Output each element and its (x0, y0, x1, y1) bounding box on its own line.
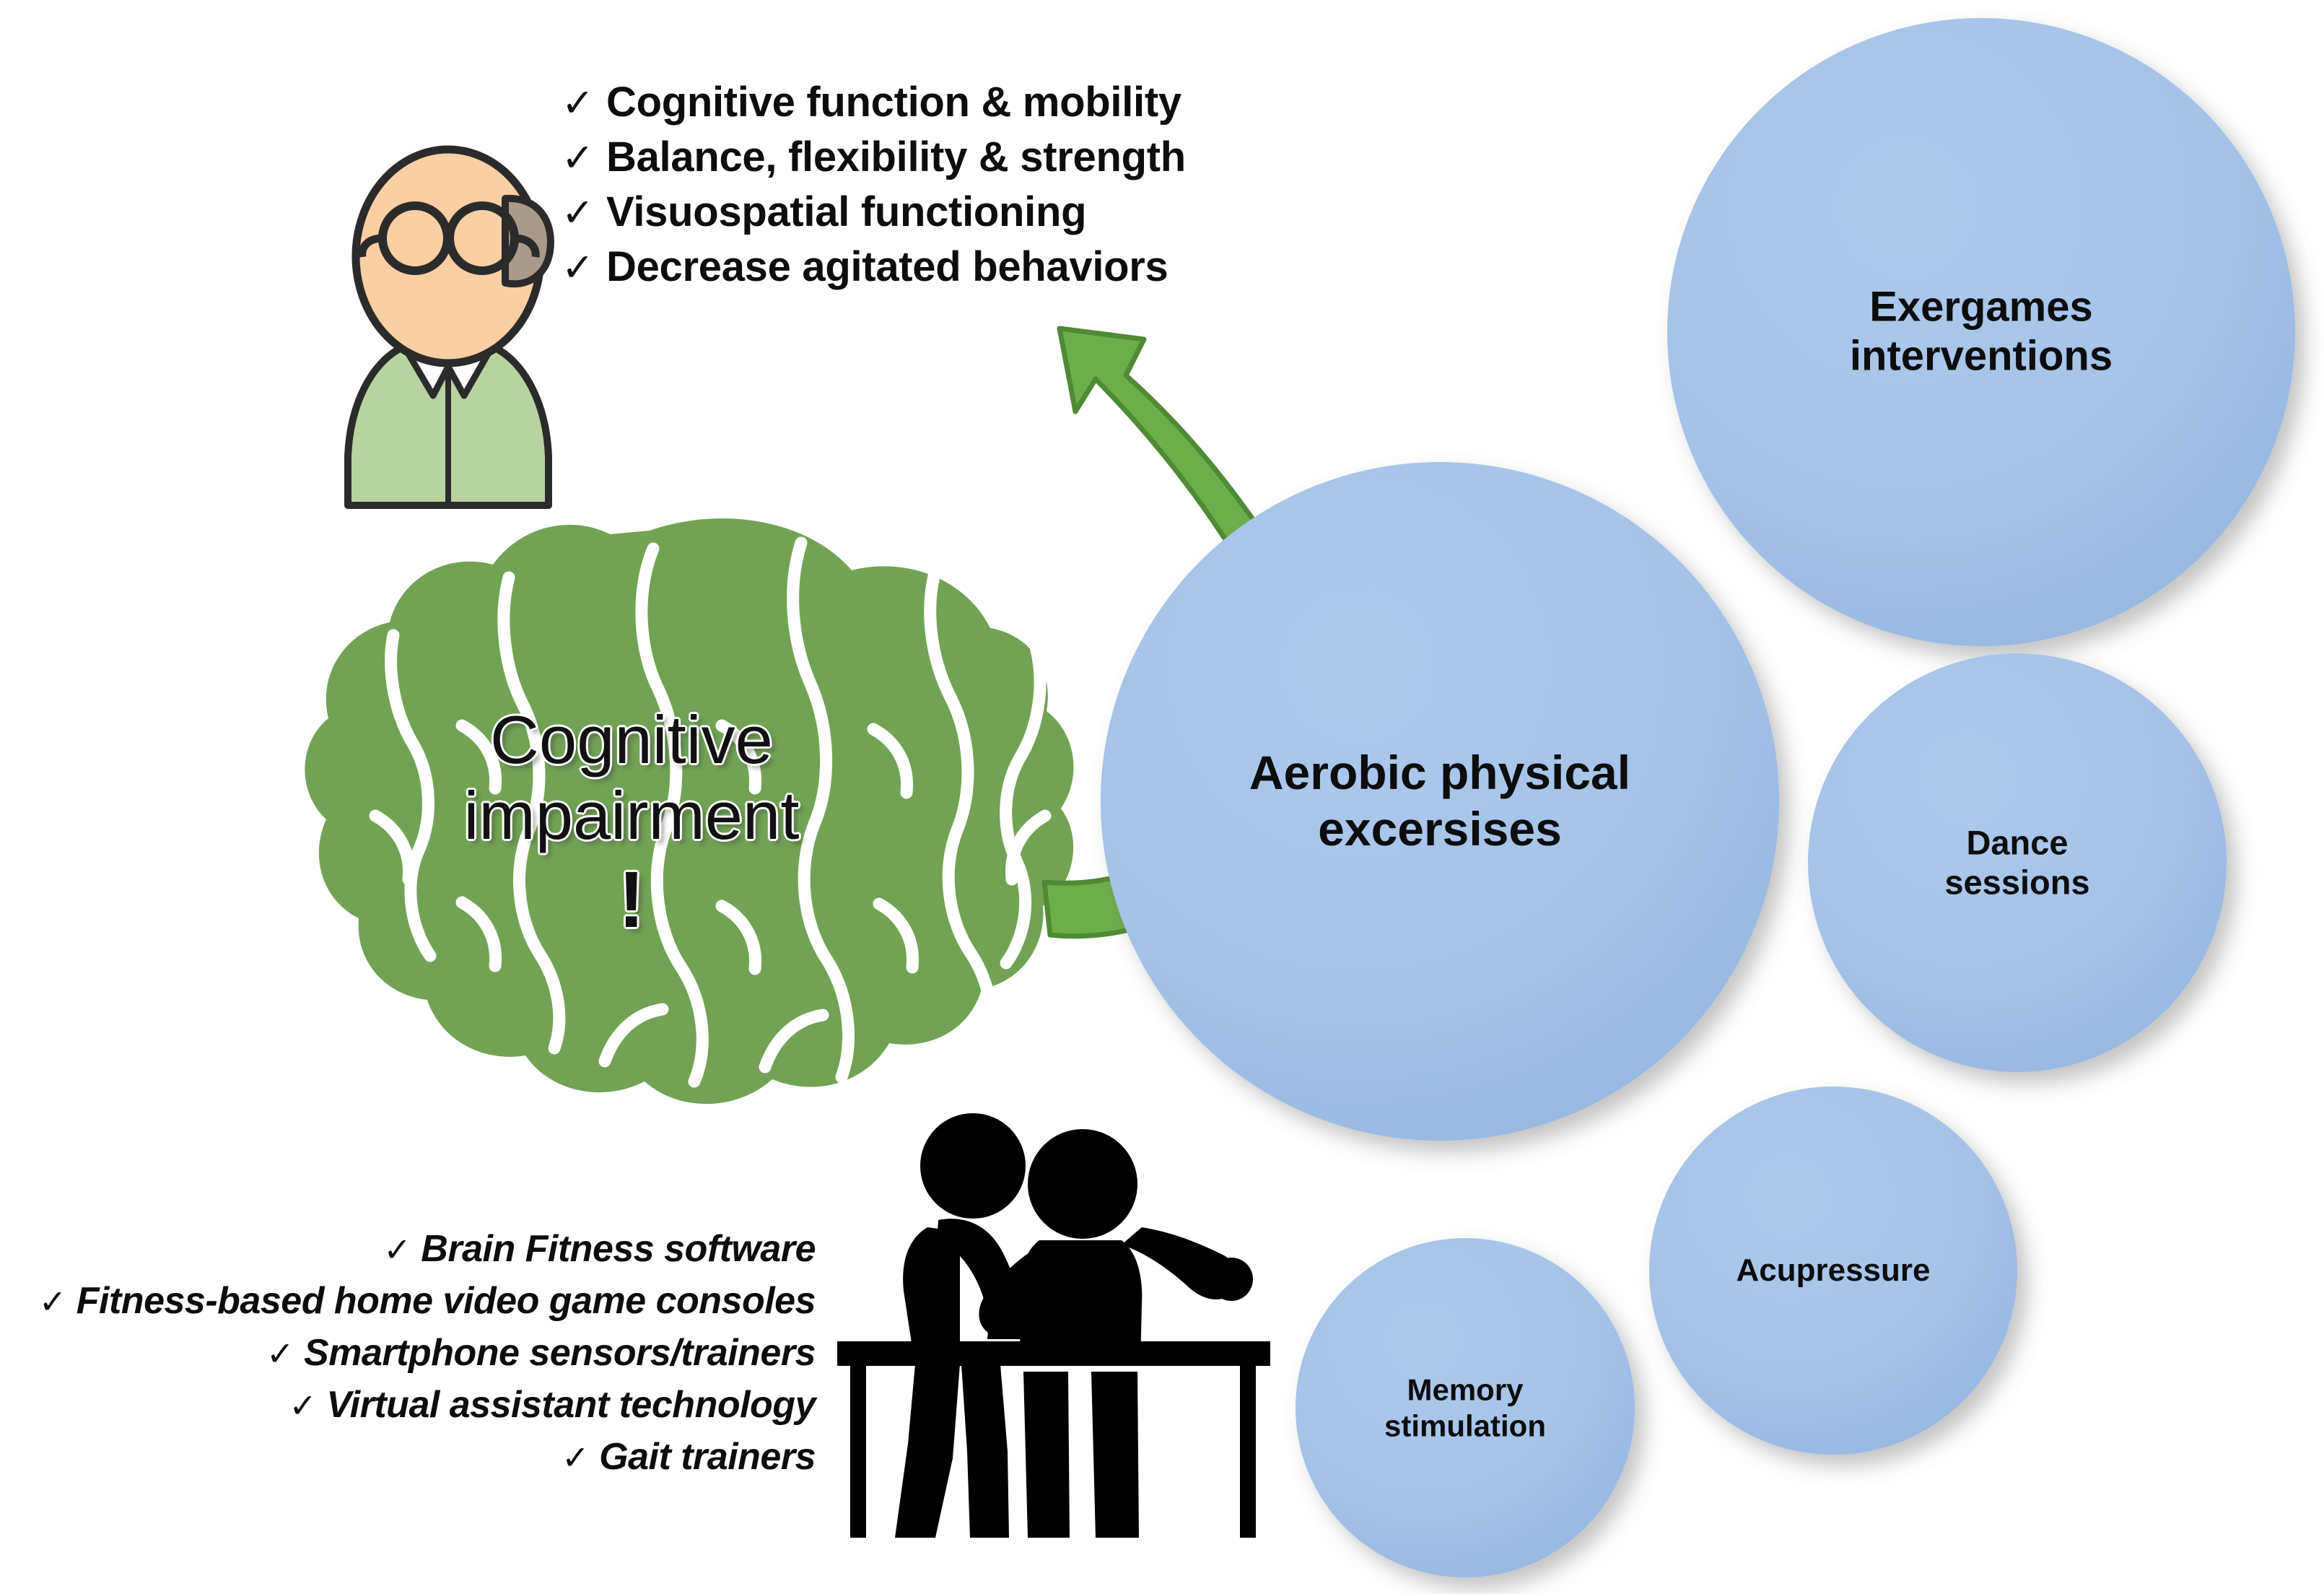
technology-item: ✓Brain Fitness software (0, 1227, 816, 1271)
technology-item: ✓Virtual assistant technology (0, 1383, 816, 1427)
check-icon: ✓ (289, 1387, 316, 1424)
technology-label: Gait trainers (599, 1436, 816, 1478)
circle-label-line1: Aerobic physical (1249, 746, 1630, 799)
check-icon: ✓ (562, 1439, 589, 1476)
check-icon: ✓ (383, 1231, 411, 1268)
brain-label-line2: impairment (464, 778, 800, 853)
check-icon: ✓ (562, 248, 606, 287)
technology-label: Smartphone sensors/trainers (304, 1332, 816, 1374)
circle-label-aerobic: Aerobic physical excersises (1166, 745, 1714, 858)
circle-label-dance: Dance sessions (1858, 823, 2176, 903)
benefits-checklist: ✓ Cognitive function & mobility ✓ Balanc… (562, 78, 1327, 297)
technology-item: ✓Gait trainers (0, 1435, 816, 1478)
check-icon: ✓ (39, 1283, 66, 1320)
benefit-item: ✓ Visuospatial functioning (562, 188, 1327, 236)
benefit-item: ✓ Cognitive function & mobility (562, 78, 1327, 126)
technology-item: ✓Fitness-based home video game consoles (0, 1279, 816, 1323)
technology-item: ✓Smartphone sensors/trainers (0, 1331, 816, 1375)
benefit-label: Cognitive function & mobility (606, 78, 1181, 126)
elderly-person-icon (348, 149, 551, 505)
circle-label-line2: sessions (1944, 863, 2089, 902)
benefit-item: ✓ Decrease agitated behaviors (562, 243, 1327, 291)
check-icon: ✓ (562, 84, 606, 123)
benefit-label: Visuospatial functioning (606, 188, 1086, 236)
circle-label-exergames: Exergames interventions (1757, 283, 2205, 382)
gait-training-pictogram-icon (837, 1113, 1270, 1538)
technology-label: Virtual assistant technology (326, 1384, 816, 1426)
circle-label-line1: Acupressure (1736, 1253, 1930, 1288)
technology-label: Brain Fitness software (421, 1228, 816, 1270)
circle-label-line1: Dance (1966, 824, 2068, 862)
circle-label-line1: Exergames (1869, 284, 2093, 331)
circle-label-acupressure: Acupressure (1678, 1252, 1988, 1289)
circle-label-line2: stimulation (1384, 1408, 1546, 1442)
technologies-checklist: ✓Brain Fitness software ✓Fitness-based h… (0, 1227, 816, 1487)
benefit-label: Balance, flexibility & strength (606, 133, 1186, 181)
circle-label-memory: Memory stimulation (1321, 1372, 1609, 1443)
brain-label-line1: Cognitive (490, 702, 773, 778)
benefit-label: Decrease agitated behaviors (606, 243, 1168, 291)
figure-canvas: ✓ Cognitive function & mobility ✓ Balanc… (0, 0, 2324, 1594)
check-icon: ✓ (266, 1335, 294, 1372)
circle-label-line1: Memory (1407, 1372, 1523, 1406)
technology-label: Fitness-based home video game consoles (77, 1280, 816, 1322)
brain-label: Cognitive impairment ! (379, 702, 884, 944)
circle-label-line2: excersises (1318, 802, 1562, 855)
check-icon: ✓ (562, 193, 606, 232)
brain-label-exclamation: ! (379, 855, 884, 944)
benefit-item: ✓ Balance, flexibility & strength (562, 133, 1327, 181)
circle-label-line2: interventions (1850, 333, 2113, 380)
check-icon: ✓ (562, 139, 606, 178)
